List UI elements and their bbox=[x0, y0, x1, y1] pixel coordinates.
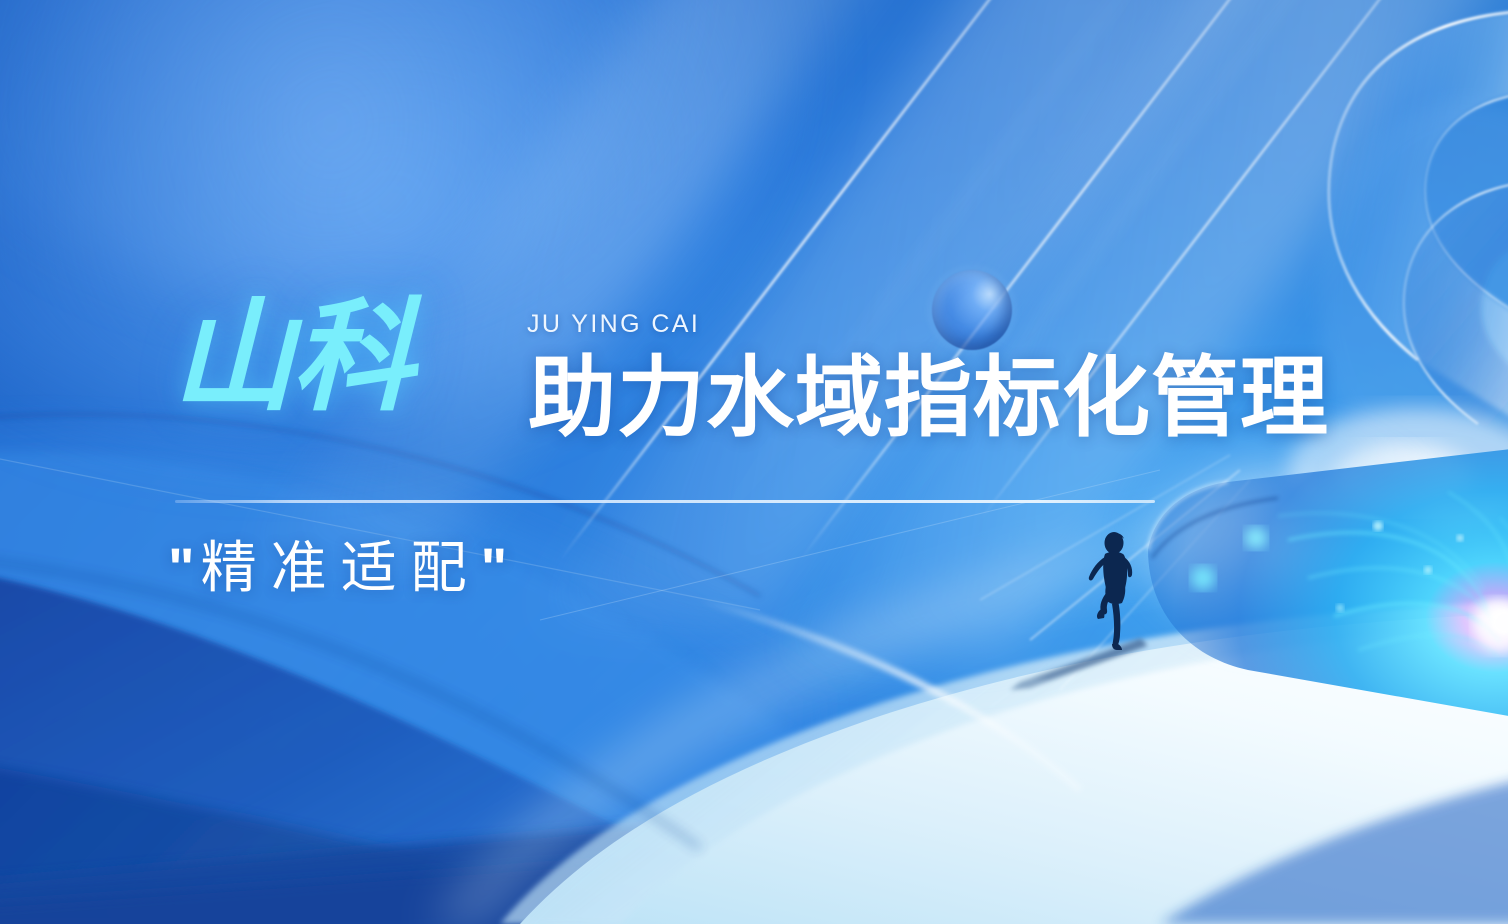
divider-line bbox=[175, 500, 1155, 503]
brand-logo-text: 山科 bbox=[172, 296, 412, 418]
headline-text: 助力水域指标化管理 bbox=[528, 354, 1329, 442]
brand-pinyin: JU YING CAI bbox=[527, 310, 700, 339]
tagline-open-quote: " bbox=[168, 536, 201, 599]
text-content: 山科 JU YING CAI 助力水域指标化管理 "精准适配" bbox=[0, 0, 1508, 924]
tagline: "精准适配" bbox=[168, 540, 513, 596]
banner-canvas: 山科 JU YING CAI 助力水域指标化管理 "精准适配" bbox=[0, 0, 1508, 924]
tagline-close-quote: " bbox=[481, 536, 514, 599]
tagline-text: 精准适配 bbox=[201, 536, 481, 599]
